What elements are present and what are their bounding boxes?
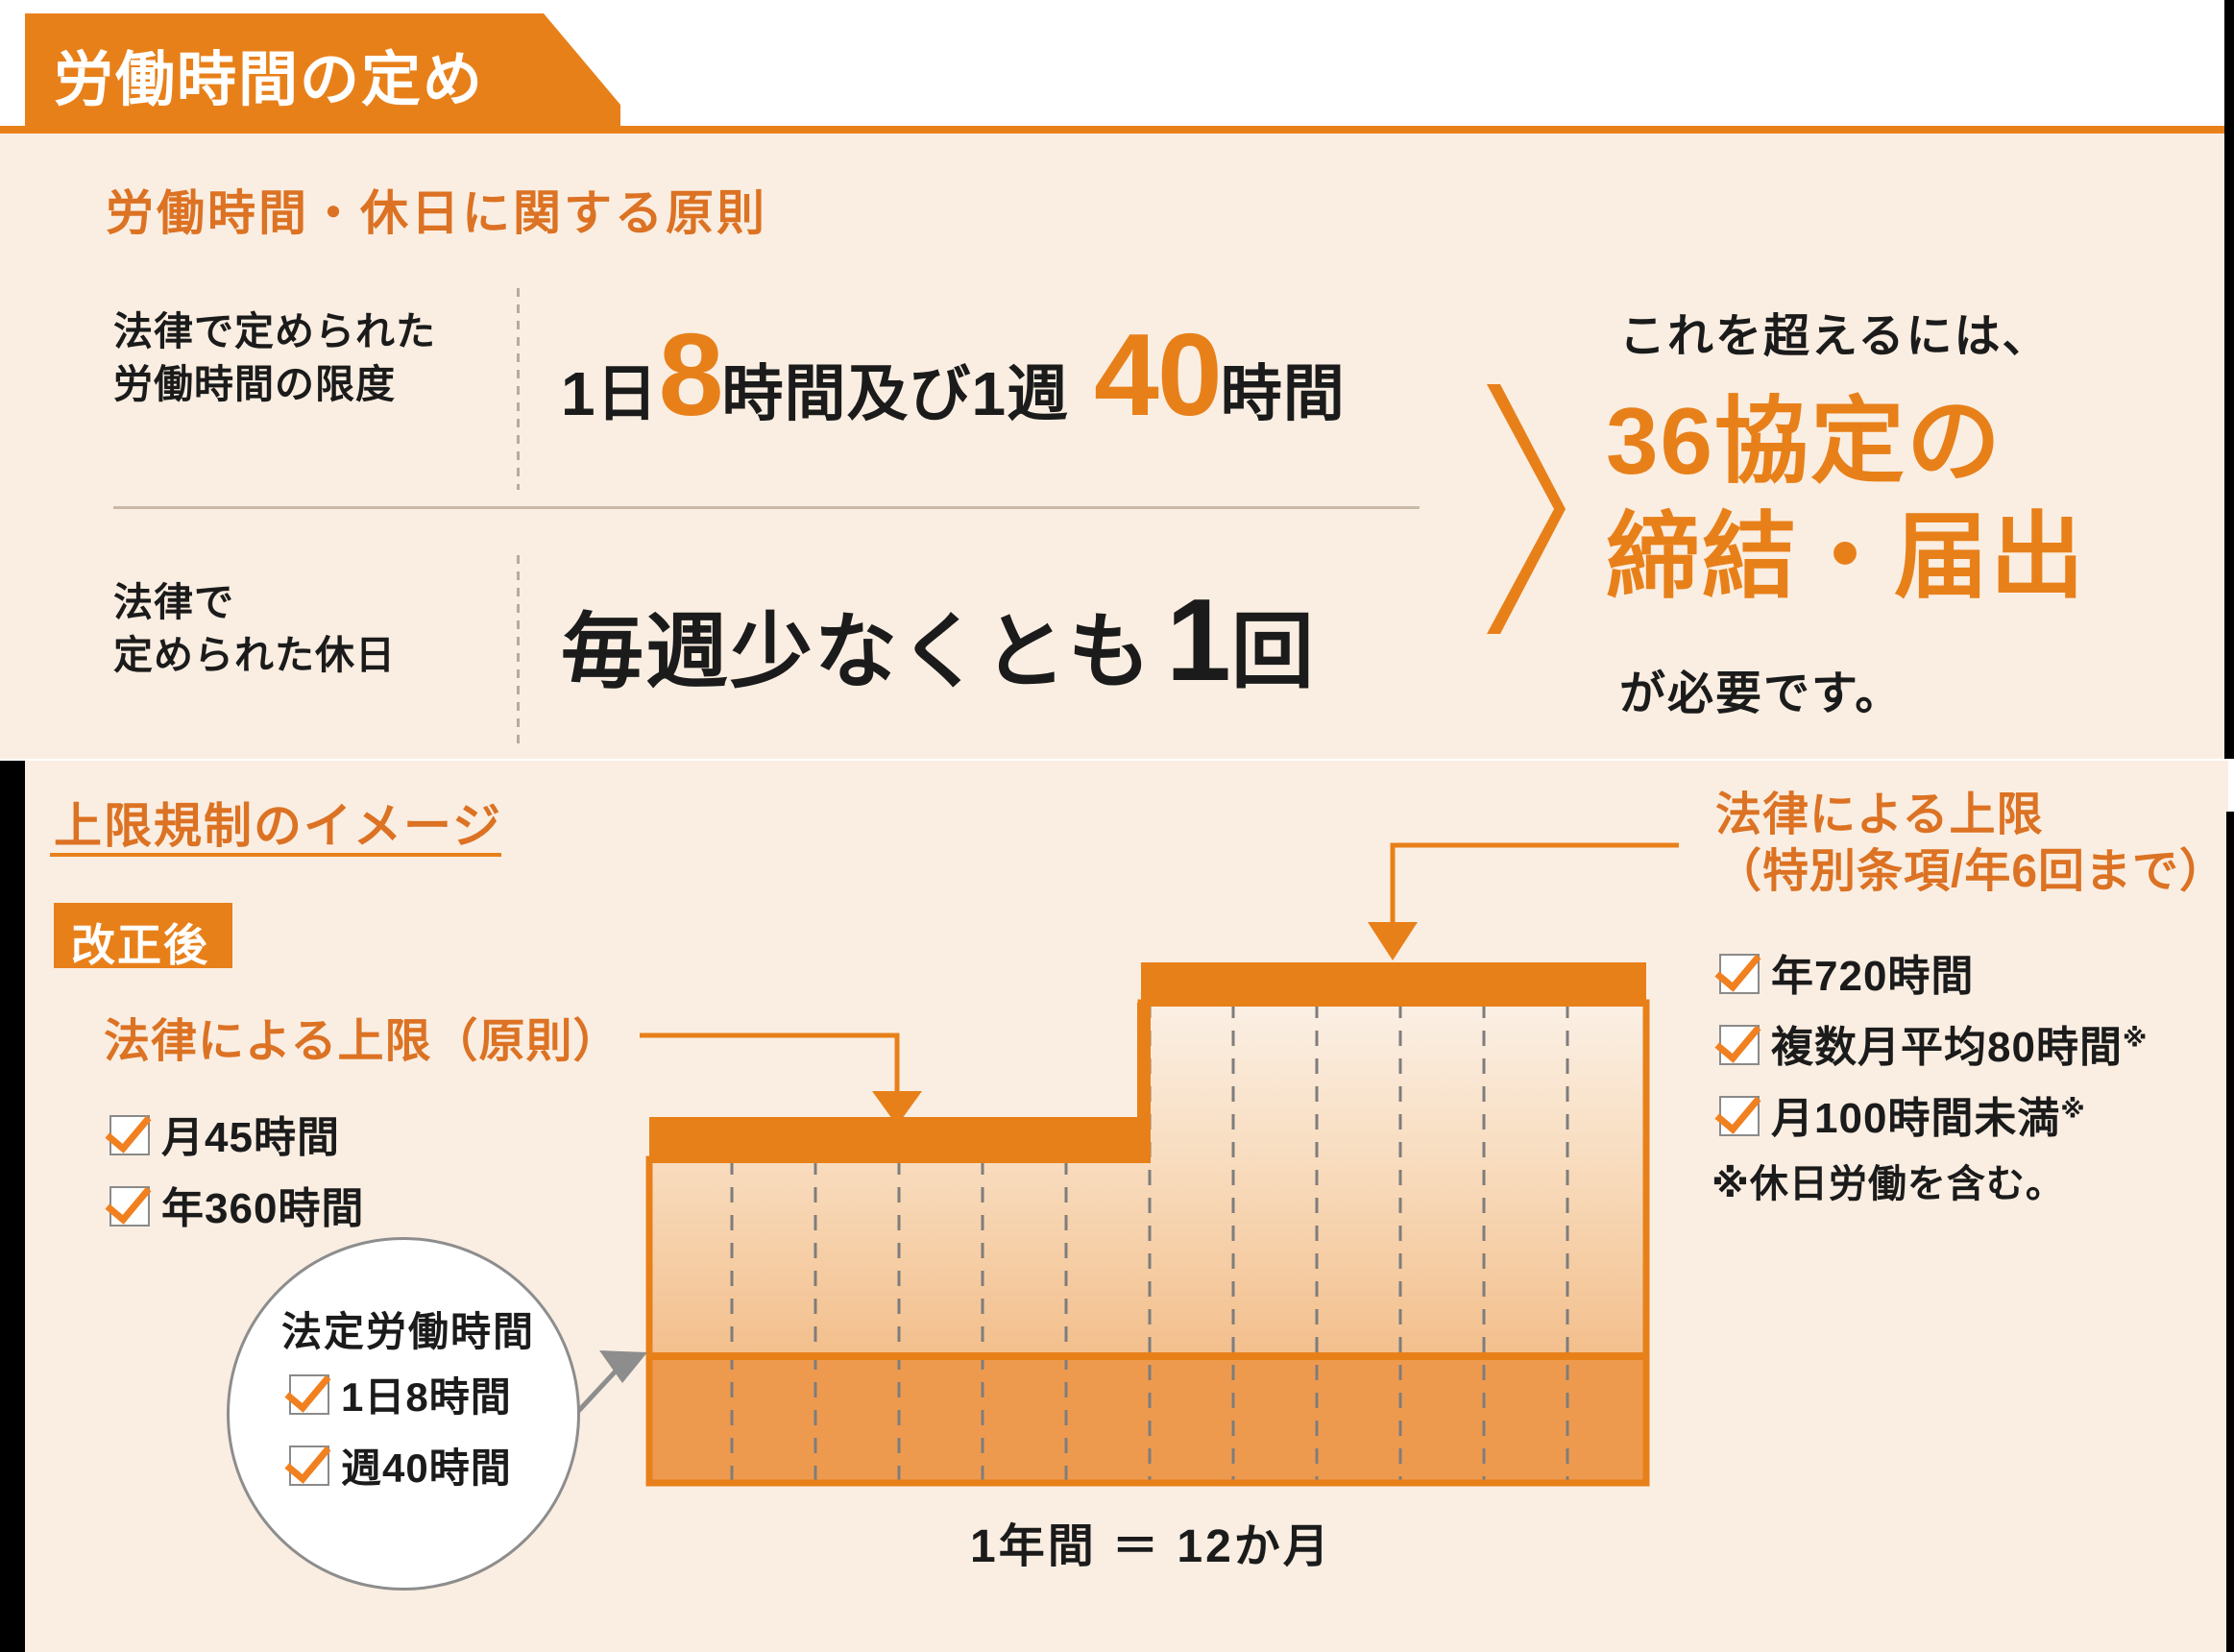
- callout-headline: 36協定の 締結・届出: [1606, 384, 2086, 614]
- upper-limit-chart: [645, 960, 1650, 1498]
- check-icon: [109, 1115, 150, 1155]
- right-legend-item-0-label: 年720時間: [1771, 953, 1974, 1000]
- row2-label: 法律で 定められた休日: [113, 576, 396, 683]
- left-legend-title: 法律による上限（原則）: [104, 1014, 620, 1071]
- row1-value-post: 時間: [1221, 359, 1346, 428]
- row1-value-pre: 1日: [561, 359, 659, 428]
- right-legend-item-2: 月100時間未満※: [1719, 1083, 2086, 1145]
- row2-label-line2: 定められた休日: [113, 629, 396, 682]
- left-legend-item-1-label: 年360時間: [161, 1185, 364, 1232]
- check-icon: [289, 1445, 329, 1486]
- row2-label-line1: 法律で: [113, 576, 396, 629]
- chevron-right-icon: [1479, 384, 1566, 634]
- row1-label-line1: 法律で定められた: [113, 305, 436, 358]
- callout-outro: が必要です。: [1619, 655, 1903, 722]
- right-legend-item-2-label: 月100時間未満: [1771, 1095, 2060, 1142]
- check-icon: [1719, 1025, 1760, 1065]
- right-legend-item-2-mark: ※: [2060, 1094, 2085, 1123]
- special-limit-cap-bar: [1141, 962, 1646, 1007]
- limits-sub-title: 上限規制のイメージ: [54, 788, 502, 857]
- chart-x-axis-caption: 1年間 ＝ 12か月: [970, 1508, 1332, 1575]
- principle-limit-cap-bar: [649, 1117, 1141, 1163]
- circle-callout-title: 法定労働時間: [281, 1300, 535, 1358]
- row1-label: 法律で定められた 労働時間の限度: [113, 305, 436, 412]
- right-legend-item-1-mark: ※: [2123, 1023, 2148, 1052]
- callout-headline-line2: 締結・届出: [1606, 499, 2086, 615]
- row1-value-big-40: 40: [1094, 309, 1221, 440]
- row2-value-big-1: 1: [1166, 574, 1231, 705]
- legal-hours-base-band: [649, 1356, 1646, 1483]
- right-legend-title-line1: 法律による上限: [1715, 788, 2226, 844]
- left-legend-item-0-label: 月45時間: [161, 1114, 340, 1161]
- check-icon: [109, 1186, 150, 1227]
- right-legend-title-line2: （特別条項/年6回まで）: [1715, 844, 2226, 901]
- status-badge-label: 改正後: [71, 911, 209, 974]
- row2-value: 毎週少なくとも1回: [561, 572, 1316, 707]
- left-legend-item-0: 月45時間: [109, 1103, 340, 1164]
- circle-callout-item-1: 週40時間: [289, 1436, 512, 1494]
- left-legend-item-1: 年360時間: [109, 1174, 364, 1235]
- infographic-page: 労働時間の定め 労働時間・休日に関する原則 法律で定められた 労働時間の限度 1…: [0, 0, 2234, 1652]
- right-legend-footnote: ※休日労働を含む。: [1712, 1153, 2065, 1208]
- check-icon: [289, 1374, 329, 1415]
- principles-section-title: 労働時間・休日に関する原則: [106, 175, 767, 244]
- row2-value-pre: 毎週少なくとも: [561, 606, 1153, 698]
- row2-value-post: 回: [1231, 606, 1316, 698]
- circle-callout-item-1-label: 週40時間: [341, 1445, 512, 1491]
- check-icon: [1719, 1096, 1760, 1136]
- header-rule: [0, 126, 2234, 134]
- row1-value-big-8: 8: [659, 309, 722, 440]
- right-legend-title: 法律による上限 （特別条項/年6回まで）: [1715, 788, 2226, 900]
- row1-label-line2: 労働時間の限度: [113, 358, 436, 411]
- right-legend-item-0: 年720時間: [1719, 941, 1974, 1003]
- row2-divider: [517, 555, 520, 747]
- principles-row-separator: [113, 506, 1420, 509]
- step-riser: [1137, 1003, 1151, 1163]
- row1-value: 1日8時間及び1週40時間: [561, 307, 1346, 442]
- page-edge-right-bottom: [2226, 812, 2234, 1652]
- circle-callout-item-0: 1日8時間: [289, 1365, 512, 1423]
- header-tab-label: 労働時間の定め: [54, 31, 484, 117]
- callout-headline-line1: 36協定の: [1606, 384, 2086, 499]
- page-edge-right-top: [2224, 0, 2234, 759]
- check-icon: [1719, 954, 1760, 994]
- limits-sub-title-underline: [50, 853, 501, 857]
- row1-value-mid: 時間及び1週: [721, 359, 1069, 428]
- right-legend-item-1-label: 複数月平均80時間: [1771, 1024, 2123, 1071]
- right-legend-item-1: 複数月平均80時間※: [1719, 1012, 2148, 1074]
- circle-callout-item-0-label: 1日8時間: [341, 1374, 512, 1420]
- callout-intro: これを超えるには、: [1619, 298, 2051, 365]
- page-edge-left: [0, 761, 25, 1652]
- row1-divider: [517, 288, 520, 490]
- legal-hours-circle-callout: 法定労働時間 1日8時間 週40時間: [227, 1237, 580, 1591]
- status-badge: 改正後: [54, 903, 232, 968]
